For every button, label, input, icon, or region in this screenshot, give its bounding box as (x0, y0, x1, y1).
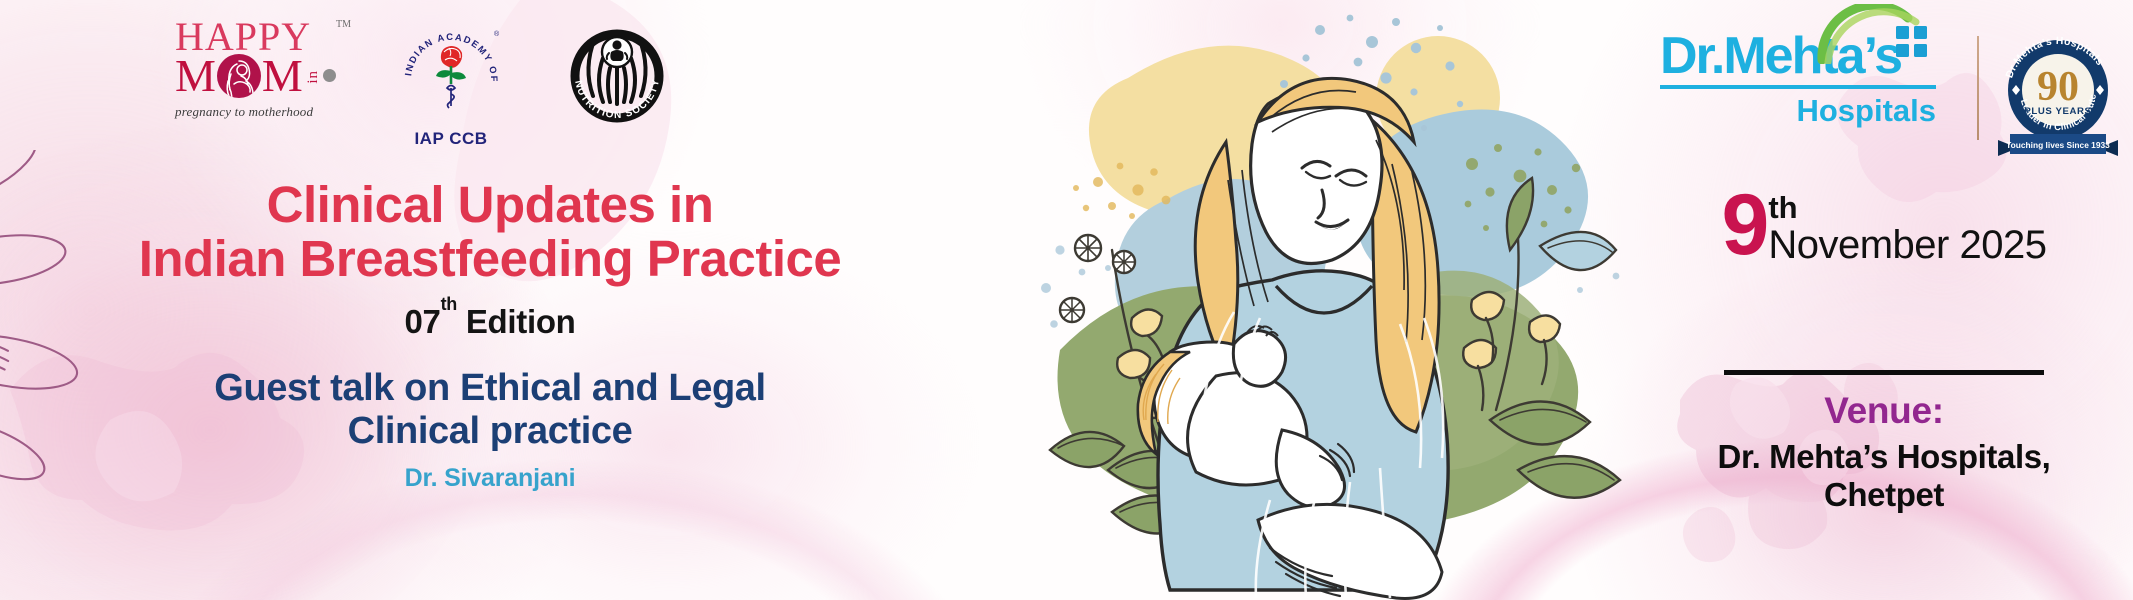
badge-plus-years: PLUS YEARS (2024, 106, 2091, 117)
mother-baby-icon (217, 54, 261, 98)
badge-ribbon: Touching lives Since 1933 (1998, 134, 2118, 156)
iap-emblem-icon: INDIAN ACADEMY OF PEDIATRICS ® (395, 18, 507, 122)
badge-90-plus-years: Dr.Mehta's Hospitals Leader in Clinical … (1992, 22, 2124, 162)
badge-number: 90 (2037, 64, 2079, 110)
happymom-letter-m-right: M (262, 55, 303, 96)
happymom-domain-in: in (306, 70, 321, 84)
event-title-line2: Indian Breastfeeding Practice (70, 232, 910, 286)
date-month-year: November 2025 (1768, 225, 2046, 265)
mother-baby-illustration (1020, 0, 1640, 600)
logo-dr-mehtas-hospitals: Dr.Mehta’s Hospitals (1660, 30, 1960, 129)
event-title-line1: Clinical Updates in (267, 176, 714, 233)
happymom-letter-m-left: M (175, 55, 216, 96)
event-text-block: Clinical Updates in Indian Breastfeeding… (70, 178, 910, 493)
event-date: 9 th November 2025 (1664, 190, 2104, 265)
event-banner: TM HAPPY M (0, 0, 2133, 600)
partner-logo-row: TM HAPPY M (175, 18, 672, 149)
trademark-symbol: TM (336, 19, 351, 30)
event-venue: Venue: Dr. Mehta’s Hospitals, Chetpet (1664, 390, 2104, 515)
mehta-underline (1660, 85, 1936, 89)
venue-label: Venue: (1664, 390, 2104, 432)
date-underline (1724, 370, 2044, 375)
happymom-dot (323, 69, 336, 82)
iap-caption: IAP CCB (392, 129, 510, 149)
right-info-panel: Dr.Mehta’s Hospitals Dr.Mehta's Hospital… (1640, 0, 2133, 600)
edition-label: 07th Edition (70, 303, 910, 341)
edition-number: 07 (404, 303, 440, 340)
guest-talk-line2: Clinical practice (70, 410, 910, 453)
svg-text:®: ® (494, 30, 500, 38)
happymom-tagline: pregnancy to motherhood (175, 104, 340, 120)
speaker-name: Dr. Sivaranjani (70, 464, 910, 493)
date-day-suffix: th (1768, 192, 2046, 223)
guest-talk-line1: Guest talk on Ethical and Legal (70, 367, 910, 410)
logo-nutrition-society-india: NUTRITION SOCIETY OF INDIA (562, 18, 672, 131)
date-day: 9 (1722, 190, 1767, 261)
logo-happymom: TM HAPPY M (175, 18, 340, 120)
edition-suffix: th (441, 294, 457, 314)
logo-divider (1977, 36, 1979, 140)
venue-line2: Chetpet (1664, 476, 2104, 514)
badge-ribbon-text: Touching lives Since 1933 (2006, 140, 2110, 150)
nsi-emblem-icon: NUTRITION SOCIETY OF INDIA (565, 18, 669, 126)
venue-line1: Dr. Mehta’s Hospitals, (1664, 438, 2104, 476)
event-title: Clinical Updates in Indian Breastfeeding… (70, 178, 910, 285)
mehta-subtitle: Hospitals (1660, 93, 1936, 129)
guest-talk-title: Guest talk on Ethical and Legal Clinical… (70, 367, 910, 452)
edition-word: Edition (466, 303, 576, 340)
logo-iap-ccb: INDIAN ACADEMY OF PEDIATRICS ® (392, 18, 510, 149)
venue-name: Dr. Mehta’s Hospitals, Chetpet (1664, 438, 2104, 515)
